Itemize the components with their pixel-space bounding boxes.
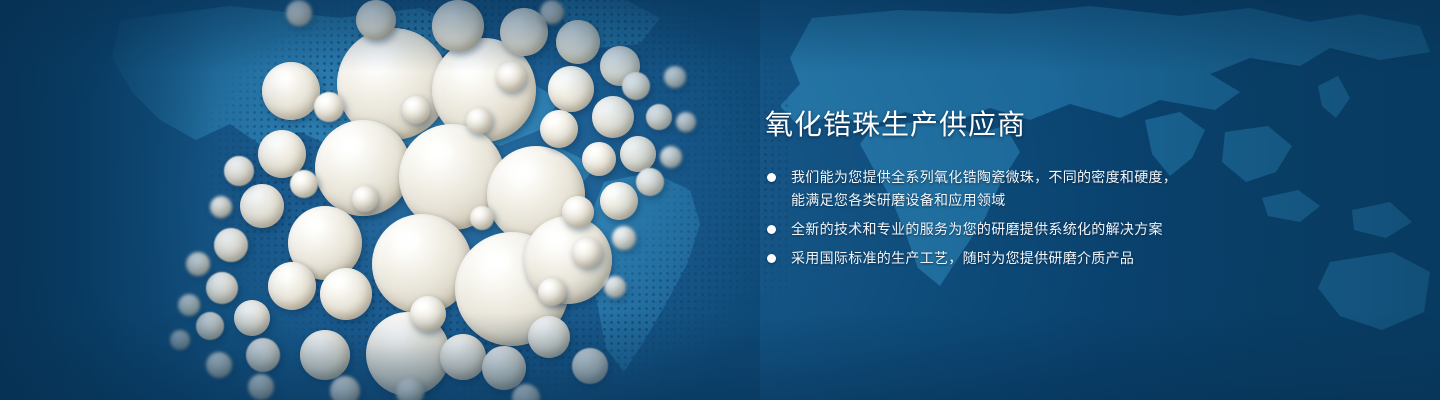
bullet-text-line-1: 全新的技术和专业的服务为您的研磨提供系统化的解决方案 (791, 221, 1163, 237)
hero-banner: 氧化锆珠生产供应商 我们能为您提供全系列氧化锆陶瓷微珠，不同的密度和硬度， 能满… (0, 0, 1440, 400)
banner-headline: 氧化锆珠生产供应商 (765, 108, 1365, 142)
bullet-dot-icon (767, 173, 776, 182)
feature-bullet-item: 全新的技术和专业的服务为您的研磨提供系统化的解决方案 (765, 218, 1365, 241)
bullet-dot-icon (767, 225, 776, 234)
feature-bullet-list: 我们能为您提供全系列氧化锆陶瓷微珠，不同的密度和硬度， 能满足您各类研磨设备和应… (765, 166, 1365, 270)
feature-bullet-item: 我们能为您提供全系列氧化锆陶瓷微珠，不同的密度和硬度， 能满足您各类研磨设备和应… (765, 166, 1365, 212)
bullet-dot-icon (767, 254, 776, 263)
bullet-text-line-2: 能满足您各类研磨设备和应用领域 (791, 189, 1365, 212)
bullet-text-line-1: 我们能为您提供全系列氧化锆陶瓷微珠，不同的密度和硬度， (791, 169, 1177, 185)
banner-copy: 氧化锆珠生产供应商 我们能为您提供全系列氧化锆陶瓷微珠，不同的密度和硬度， 能满… (765, 108, 1365, 270)
bullet-text-line-1: 采用国际标准的生产工艺，随时为您提供研磨介质产品 (791, 250, 1134, 266)
feature-bullet-item: 采用国际标准的生产工艺，随时为您提供研磨介质产品 (765, 247, 1365, 270)
